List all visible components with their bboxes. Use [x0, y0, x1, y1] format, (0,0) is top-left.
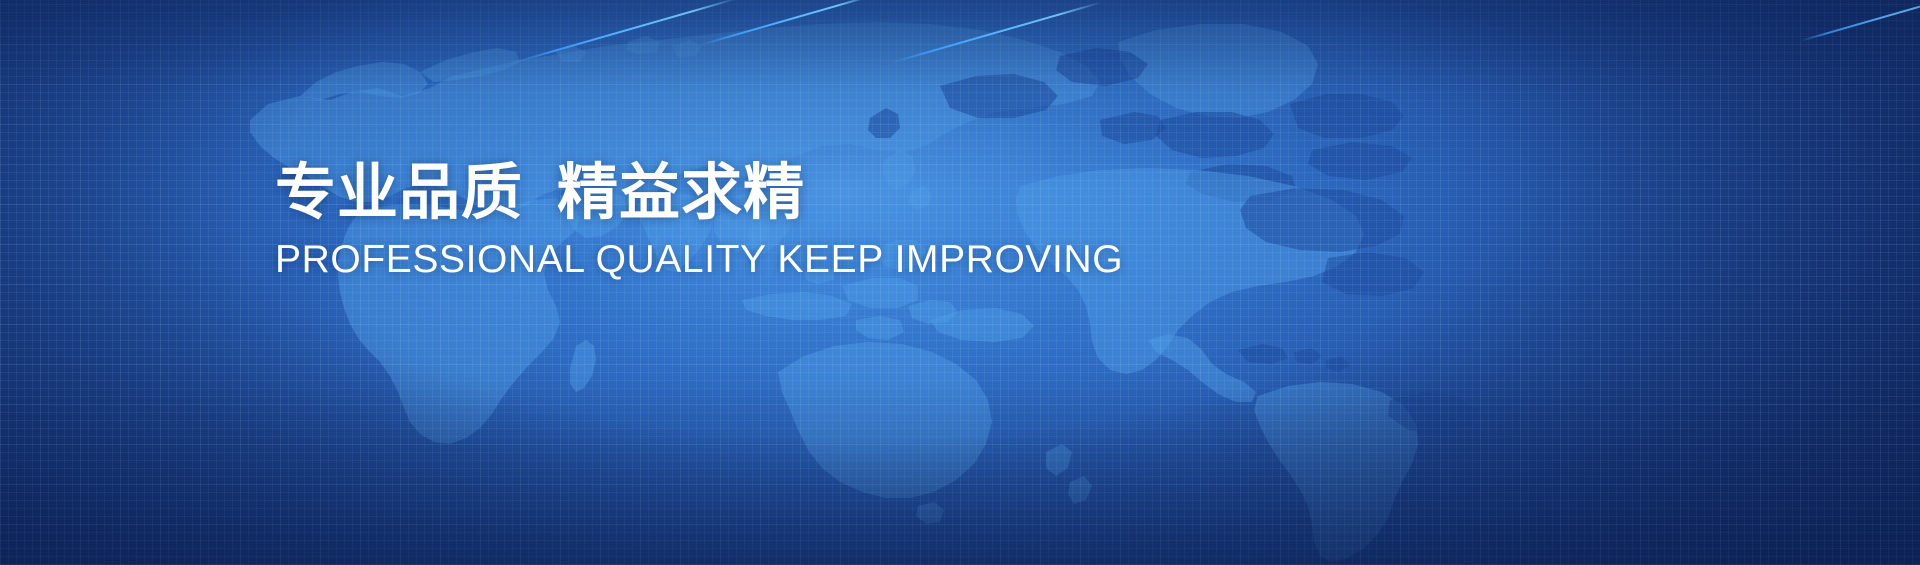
banner-copy: 专业品质 精益求精 PROFESSIONAL QUALITY KEEP IMPR… [275, 160, 1123, 282]
edge-fade-overlay [0, 0, 1920, 565]
hero-banner: 专业品质 精益求精 PROFESSIONAL QUALITY KEEP IMPR… [0, 0, 1920, 565]
banner-headline: 专业品质 精益求精 [275, 160, 1123, 225]
headline-segment-one: 专业品质 [275, 160, 523, 225]
headline-segment-two: 精益求精 [557, 160, 805, 225]
banner-subheadline: PROFESSIONAL QUALITY KEEP IMPROVING [275, 239, 1123, 282]
